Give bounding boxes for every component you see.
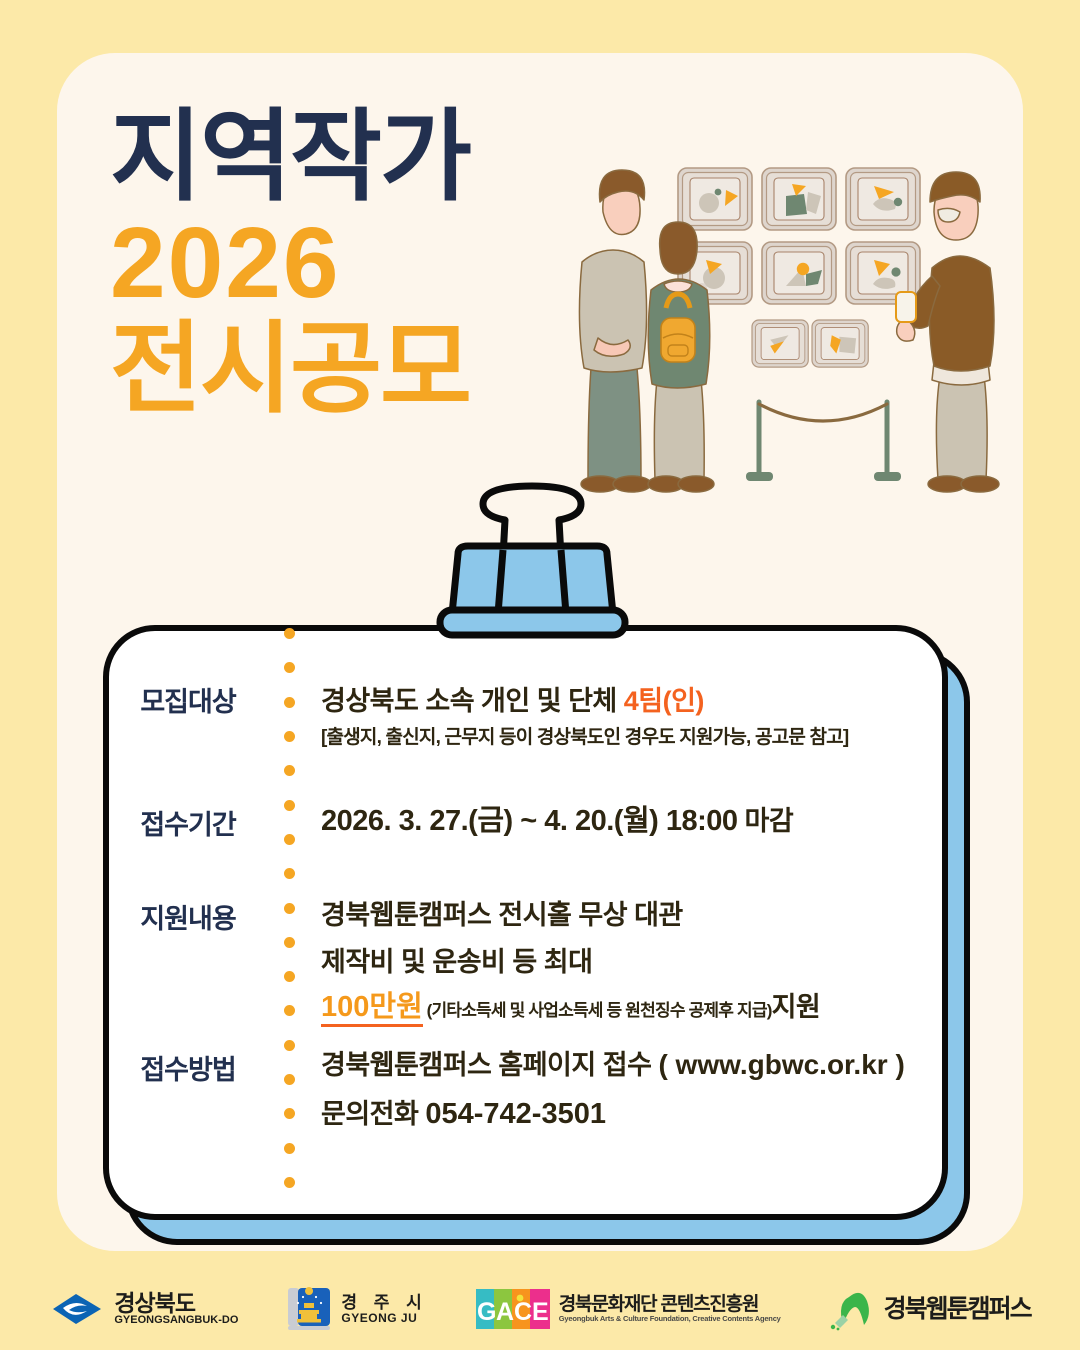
title-line-2-year: 2026 bbox=[110, 214, 630, 312]
svg-text:G: G bbox=[477, 1298, 496, 1326]
gace-icon: G A C E bbox=[476, 1289, 550, 1329]
info-rows: 모집대상 경상북도 소속 개인 및 단체 4팀(인) [출생지, 출신지, 근무… bbox=[103, 625, 948, 1220]
footer-logos: 경상북도 GYEONGSANGBUK-DO 경 주 시 GYEONG JU G bbox=[0, 1268, 1080, 1350]
row-value-target-main: 경상북도 소속 개인 및 단체 4팀(인) bbox=[321, 679, 704, 718]
gyeongju-si-icon bbox=[286, 1285, 332, 1333]
svg-text:E: E bbox=[532, 1298, 549, 1326]
support-tail: 지원 bbox=[772, 992, 821, 1022]
support-paren: (기타소득세 및 사업소득세 등 원천징수 공제후 지급) bbox=[423, 1001, 772, 1020]
tel-number[interactable]: 054-742-3501 bbox=[425, 1098, 606, 1130]
gbwc-icon bbox=[829, 1287, 875, 1331]
row-value-support-2: 제작비 및 운송비 등 최대 bbox=[321, 940, 592, 979]
binder-clip bbox=[425, 482, 640, 647]
apply-text-pre: 경북웹툰캠퍼스 홈페이지 접수 bbox=[321, 1050, 658, 1080]
gyeongsangbuk-do-icon bbox=[49, 1288, 105, 1330]
row-value-period: 2026. 3. 27.(금) ~ 4. 20.(월) 18:00 마감 bbox=[321, 797, 793, 839]
svg-text:A: A bbox=[496, 1298, 514, 1326]
row-value-apply-tel: 문의전화 054-742-3501 bbox=[321, 1092, 606, 1131]
row-value-target-note: [출생지, 출신지, 근무지 등이 경상북도인 경우도 지원가능, 공고문 참고… bbox=[321, 722, 848, 749]
tel-label: 문의전화 bbox=[321, 1099, 425, 1129]
logo-gace: G A C E 경북문화재단 콘텐츠진흥원 Gyeongbuk Arts & C… bbox=[476, 1289, 781, 1329]
period-dates: 2026. 3. 27.(금) ~ 4. 20.(월) 18:00 bbox=[321, 805, 738, 837]
period-tail: 마감 bbox=[738, 806, 794, 836]
apply-website-link[interactable]: ( www.gbwc.or.kr ) bbox=[658, 1049, 904, 1080]
logo-gsbd-ko: 경상북도 bbox=[114, 1291, 238, 1315]
logo-gyeongsangbuk-do: 경상북도 GYEONGSANGBUK-DO bbox=[49, 1288, 238, 1330]
row-value-support-1: 경북웹툰캠퍼스 전시홀 무상 대관 bbox=[321, 893, 683, 932]
logo-gyeongju-si: 경 주 시 GYEONG JU bbox=[286, 1285, 427, 1333]
support-amount: 100만원 bbox=[321, 991, 423, 1027]
logo-gace-en: Gyeongbuk Arts & Culture Foundation, Cre… bbox=[559, 1315, 781, 1323]
title-line-3: 전시공모 bbox=[110, 320, 630, 418]
logo-gbwc: 경북웹툰캠퍼스 bbox=[829, 1287, 1031, 1331]
row-value-support-3: 100만원 (기타소득세 및 사업소득세 등 원천징수 공제후 지급)지원 bbox=[321, 983, 820, 1025]
row-label-support: 지원내용 bbox=[103, 897, 273, 936]
logo-gsbd-en: GYEONGSANGBUK-DO bbox=[114, 1315, 238, 1327]
row-value-apply-url[interactable]: 경북웹툰캠퍼스 홈페이지 접수 ( www.gbwc.or.kr ) bbox=[321, 1043, 905, 1082]
row-label-period: 접수기간 bbox=[103, 803, 273, 842]
logo-gj-ko: 경 주 시 bbox=[341, 1294, 427, 1312]
row-label-apply: 접수방법 bbox=[103, 1048, 273, 1087]
svg-text:C: C bbox=[514, 1298, 532, 1326]
target-count: 4팀(인) bbox=[624, 686, 704, 716]
logo-gj-en: GYEONG JU bbox=[341, 1312, 427, 1325]
page-title: 지역작가 2026 전시공모 bbox=[110, 108, 630, 418]
row-label-target: 모집대상 bbox=[103, 680, 273, 719]
target-text-pre: 경상북도 소속 개인 및 단체 bbox=[321, 686, 624, 716]
logo-gbwc-ko: 경북웹툰캠퍼스 bbox=[884, 1296, 1031, 1322]
title-line-1: 지역작가 bbox=[110, 108, 630, 206]
logo-gace-ko: 경북문화재단 콘텐츠진흥원 bbox=[559, 1295, 781, 1315]
